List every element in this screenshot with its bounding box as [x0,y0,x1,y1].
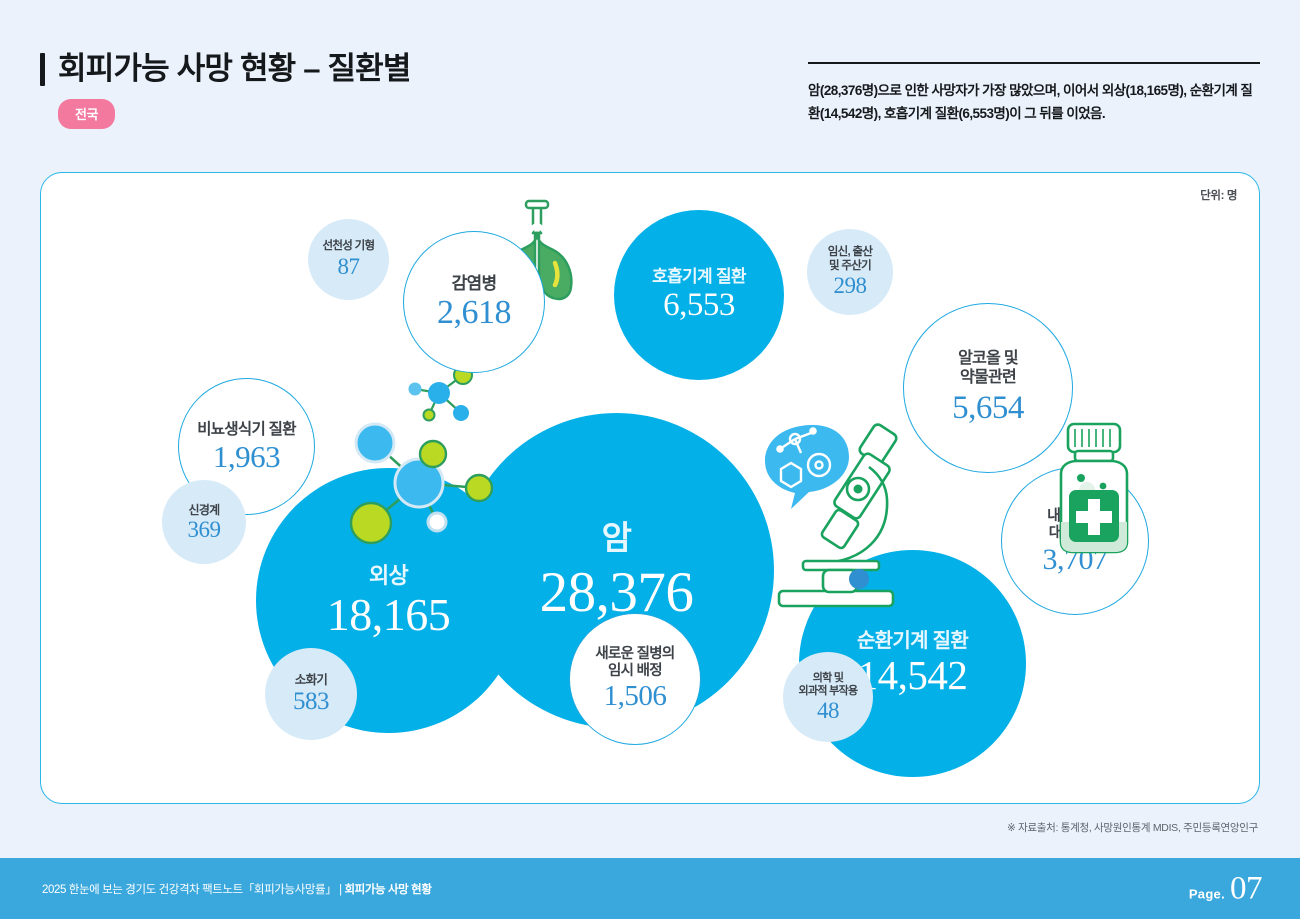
header-title-block: 회피가능 사망 현황 – 질환별 전국 [40,52,411,129]
bubble-congenital[interactable]: 선천성 기형 87 [308,219,389,300]
bubble-alcohol-drug-label-line2: 약물관련 [960,369,1016,388]
bubble-adverse-label-line2: 외과적 부작용 [799,685,858,698]
bubble-respiratory-value: 6,553 [663,289,735,323]
bubble-endocrine-value: 3,707 [1043,545,1108,576]
bubble-nervous-value: 369 [188,518,221,541]
page-label: Page. [1189,886,1225,901]
bubble-perinatal[interactable]: 임신, 출산 및 주산기 298 [807,229,893,315]
bubble-circulatory-value: 14,542 [858,655,968,697]
summary-block: 암(28,376명)으로 인한 사망자가 가장 많았으며, 이어서 외상(18,… [808,62,1260,125]
bubble-digestive-label: 소화기 [295,673,327,688]
bubble-alcohol-drug-value: 5,654 [952,392,1024,426]
footer-breadcrumb-plain: 2025 한눈에 보는 경기도 건강격차 팩트노트「회피가능사망률」 | [42,884,344,896]
bubble-circulatory-label: 순환기계 질환 [857,630,968,654]
bubble-nervous[interactable]: 신경계 369 [162,480,246,564]
bubble-adverse-label-line1: 의학 및 [813,672,844,685]
summary-text: 암(28,376명)으로 인한 사망자가 가장 많았으며, 이어서 외상(18,… [808,79,1260,125]
bubble-nervous-label: 신경계 [188,503,219,517]
title-row: 회피가능 사망 현황 – 질환별 [40,52,411,86]
molecule-icon-small [399,363,481,433]
bubble-perinatal-label-line1: 임신, 출산 [828,246,873,260]
bubble-infectious[interactable]: 감염병 2,618 [403,231,545,373]
bubble-cancer-value: 28,376 [540,564,694,622]
title-accent-bar [40,53,45,86]
bubble-perinatal-label-line2: 및 주산기 [829,260,871,274]
page-title: 회피가능 사망 현황 – 질환별 [58,52,411,86]
page-indicator: Page. 07 [1189,870,1262,907]
infographic-page: 회피가능 사망 현황 – 질환별 전국 암(28,376명)으로 인한 사망자가… [0,0,1300,919]
source-note: ※ 자료출처: 통계청, 사망원인통계 MDIS, 주민등록연앙인구 [1007,820,1258,835]
bubble-new-disease-label-line2: 임시 배정 [608,663,662,680]
bubble-urogenital-label: 비뇨생식기 질환 [197,421,296,439]
bubble-chart-card: 단위: 명 [40,172,1260,804]
bubble-endocrine[interactable]: 내분비 및 대사질환 3,707 [1001,467,1149,615]
bubble-perinatal-value: 298 [834,274,867,297]
bubble-congenital-label: 선천성 기형 [323,240,375,254]
footer-breadcrumb-bold: 회피가능 사망 현황 [344,884,431,896]
bubble-endocrine-label-line1: 내분비 및 [1047,507,1103,525]
bubble-infectious-label: 감염병 [452,274,497,294]
summary-divider [808,62,1260,64]
bubble-digestive-value: 583 [293,689,329,715]
bubble-new-disease-label-line1: 새로운 질병의 [595,646,674,663]
bubble-cancer-label: 암 [602,519,632,558]
bubble-infectious-value: 2,618 [437,296,511,331]
bubble-endocrine-label-line2: 대사질환 [1049,524,1101,542]
bubble-adverse[interactable]: 의학 및 외과적 부작용 48 [783,652,873,742]
bubble-respiratory[interactable]: 호흡기계 질환 6,553 [614,210,784,380]
bubble-urogenital-value: 1,963 [213,441,280,473]
page-number: 07 [1230,870,1262,907]
footer-breadcrumb: 2025 한눈에 보는 경기도 건강격차 팩트노트「회피가능사망률」 | 회피가… [42,881,432,897]
bubble-alcohol-drug[interactable]: 알코올 및 약물관련 5,654 [903,303,1073,473]
region-badge: 전국 [58,99,115,129]
bubble-trauma-value: 18,165 [327,592,451,639]
unit-label: 단위: 명 [1200,187,1237,203]
footer-bar: 2025 한눈에 보는 경기도 건강격차 팩트노트「회피가능사망률」 | 회피가… [0,858,1300,919]
bubble-trauma-label: 외상 [369,563,408,589]
bubble-alcohol-drug-label-line1: 알코올 및 [958,350,1018,369]
bubble-congenital-value: 87 [338,255,360,278]
bubble-digestive[interactable]: 소화기 583 [265,648,357,740]
bubble-adverse-value: 48 [817,699,839,722]
bubble-new-disease-value: 1,506 [604,682,667,712]
bubble-respiratory-label: 호흡기계 질환 [652,267,746,287]
bubble-new-disease[interactable]: 새로운 질병의 임시 배정 1,506 [569,613,701,745]
